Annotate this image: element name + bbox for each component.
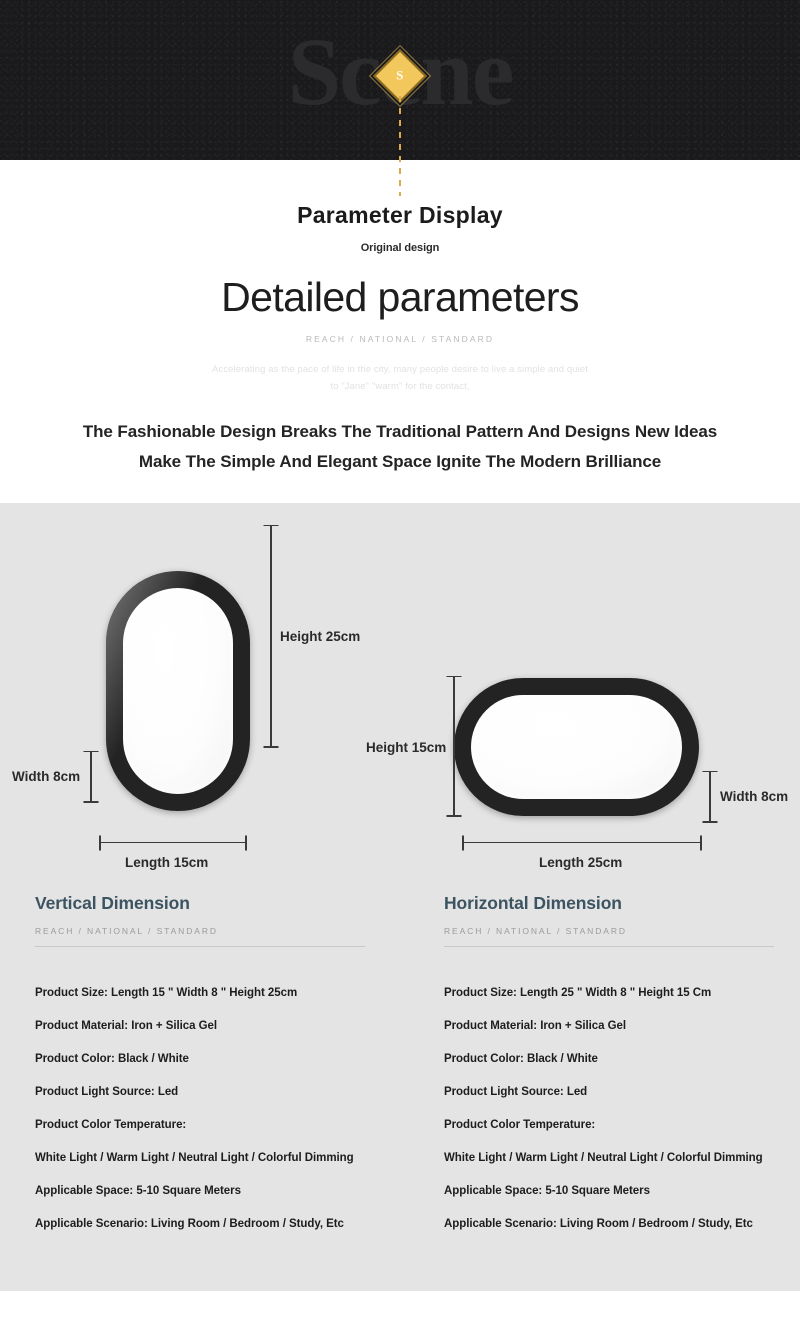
- vertical-dimension-spec-column: Vertical Dimension REACH / NATIONAL / ST…: [35, 893, 375, 1251]
- horizontal-length-label: Length 25cm: [539, 855, 622, 870]
- title-block: Parameter Display Original design Detail…: [0, 160, 800, 477]
- spec-item: White Light / Warm Light / Neutral Light…: [444, 1152, 784, 1164]
- spec-item: Product Color: Black / White: [35, 1053, 375, 1065]
- vertical-lamp-illustration: [106, 571, 250, 811]
- spec-title-vertical: Vertical Dimension: [35, 893, 375, 914]
- dashed-connector-line: [399, 96, 401, 196]
- horizontal-height-label: Height 15cm: [366, 740, 446, 755]
- tagline-line-2: Make The Simple And Elegant Space Ignite…: [0, 447, 800, 477]
- lede-line-2: to "Jane" "warm" for the contact,: [0, 379, 800, 396]
- page-title: Detailed parameters: [0, 274, 800, 321]
- spec-item: Product Color Temperature:: [35, 1119, 375, 1131]
- spec-title-horizontal: Horizontal Dimension: [444, 893, 784, 914]
- spec-item: Applicable Space: 5-10 Square Meters: [35, 1185, 375, 1197]
- spec-item: Product Size: Length 25 " Width 8 " Heig…: [444, 987, 784, 999]
- spec-item: Product Size: Length 15 " Width 8 " Heig…: [35, 987, 375, 999]
- tagline: The Fashionable Design Breaks The Tradit…: [0, 417, 800, 477]
- vertical-width-dimension-line: [90, 751, 92, 803]
- spec-subtitle-vertical: REACH / NATIONAL / STANDARD: [35, 926, 375, 936]
- spec-item: Applicable Space: 5-10 Square Meters: [444, 1185, 784, 1197]
- lamp-ring: [454, 678, 699, 816]
- standards-line: REACH / NATIONAL / STANDARD: [0, 334, 800, 344]
- tagline-line-1: The Fashionable Design Breaks The Tradit…: [0, 417, 800, 447]
- lamp-stand: [690, 771, 714, 834]
- spec-item: Product Material: Iron + Silica Gel: [444, 1020, 784, 1032]
- vertical-width-label: Width 8cm: [12, 769, 80, 784]
- lede-paragraph: Accelerating as the pace of life in the …: [0, 362, 800, 395]
- spec-divider: [444, 946, 774, 947]
- subtitle-text: Original design: [0, 242, 800, 254]
- spec-item: Product Light Source: Led: [444, 1086, 784, 1098]
- spec-item: Product Light Source: Led: [35, 1086, 375, 1098]
- spec-list-vertical: Product Size: Length 15 " Width 8 " Heig…: [35, 987, 375, 1230]
- spec-subtitle-horizontal: REACH / NATIONAL / STANDARD: [444, 926, 784, 936]
- horizontal-lamp-illustration: [454, 678, 699, 816]
- lamp-ring: [106, 571, 250, 811]
- spec-item: Product Color Temperature:: [444, 1119, 784, 1131]
- diamond-shape: S: [373, 49, 427, 103]
- spec-item: Product Material: Iron + Silica Gel: [35, 1020, 375, 1032]
- spec-item: Applicable Scenario: Living Room / Bedro…: [35, 1218, 375, 1230]
- lede-line-1: Accelerating as the pace of life in the …: [0, 362, 800, 379]
- spec-item: Applicable Scenario: Living Room / Bedro…: [444, 1218, 784, 1230]
- diamond-badge-letter: S: [396, 68, 403, 84]
- horizontal-dimension-spec-column: Horizontal Dimension REACH / NATIONAL / …: [444, 893, 784, 1251]
- vertical-length-label: Length 15cm: [125, 855, 208, 870]
- horizontal-length-dimension-line: [462, 842, 702, 844]
- horizontal-height-dimension-line: [453, 676, 455, 817]
- spec-divider: [35, 946, 365, 947]
- spec-item: White Light / Warm Light / Neutral Light…: [35, 1152, 375, 1164]
- eyebrow-heading: Parameter Display: [0, 202, 800, 229]
- horizontal-width-label: Width 8cm: [720, 789, 788, 804]
- spec-list-horizontal: Product Size: Length 25 " Width 8 " Heig…: [444, 987, 784, 1230]
- vertical-height-dimension-line: [270, 525, 272, 748]
- vertical-height-label: Height 25cm: [280, 629, 360, 644]
- horizontal-width-dimension-line: [709, 771, 711, 823]
- vertical-length-dimension-line: [99, 842, 247, 844]
- diamond-badge: S: [381, 57, 419, 95]
- spec-item: Product Color: Black / White: [444, 1053, 784, 1065]
- specification-section: Height 25cm Width 8cm Length 15cm Height…: [0, 503, 800, 1291]
